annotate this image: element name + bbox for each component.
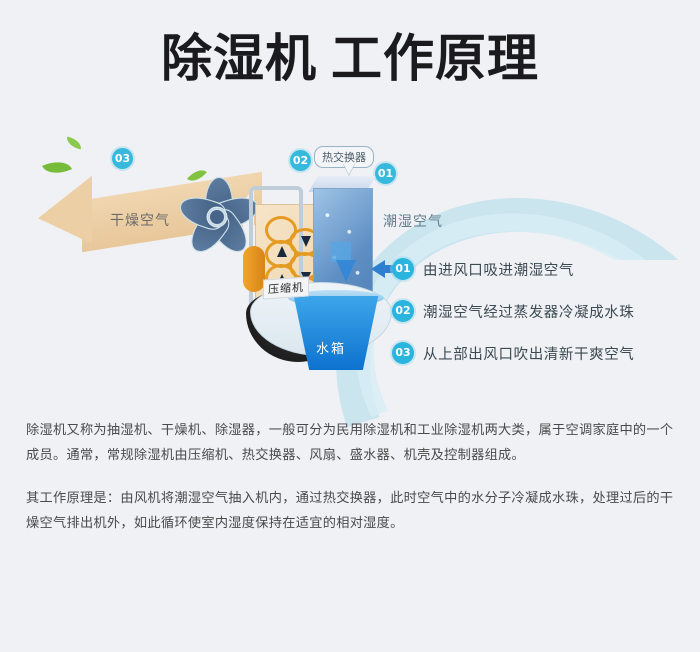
leaf-icon — [65, 136, 83, 149]
diagram-badge-dry-air: 03 — [112, 148, 133, 169]
flow-arrow-up-icon — [277, 246, 287, 257]
legend-list: 01 由进风口吸进潮湿空气 02 潮湿空气经过蒸发器冷凝成水珠 03 从上部出风… — [392, 258, 692, 384]
flow-arrow-down-icon — [301, 236, 311, 247]
legend-text: 由进风口吸进潮湿空气 — [423, 259, 574, 280]
legend-item: 01 由进风口吸进潮湿空气 — [392, 258, 692, 280]
page-title: 除湿机工作原理 — [0, 28, 700, 92]
title-part-1: 除湿机 — [161, 30, 317, 89]
water-drip-arrow-icon — [336, 260, 356, 282]
legend-text: 潮湿空气经过蒸发器冷凝成水珠 — [423, 301, 634, 322]
dry-air-label: 干燥空气 — [110, 210, 170, 230]
legend-badge: 03 — [392, 342, 414, 364]
title-part-2: 工作原理 — [331, 30, 539, 89]
description-paragraph-2: 其工作原理是：由风机将潮湿空气抽入机内，通过热交换器，此时空气中的水分子冷凝成水… — [26, 486, 676, 536]
receiver-cylinder — [243, 246, 265, 292]
heat-exchanger-callout: 热交换器 — [314, 146, 374, 168]
fan-hub — [208, 208, 226, 226]
page-root: 除湿机工作原理 03 干燥空气 02 热交换器 01 潮湿空气 — [0, 0, 700, 566]
water-drip-tail — [331, 242, 351, 262]
compressor-label: 压缩机 — [263, 276, 309, 299]
page-title-wrap: 除湿机工作原理 — [0, 28, 700, 92]
legend-badge: 01 — [392, 258, 414, 280]
description-paragraph-1: 除湿机又称为抽湿机、干燥机、除湿器，一般可分为民用除湿机和工业除湿机两大类，属于… — [26, 418, 676, 468]
legend-text: 从上部出风口吹出清新干爽空气 — [423, 343, 634, 364]
dry-air-arrow-head — [38, 176, 92, 253]
humid-air-label: 潮湿空气 — [383, 211, 443, 231]
legend-item: 02 潮湿空气经过蒸发器冷凝成水珠 — [392, 300, 692, 322]
description-block: 除湿机又称为抽湿机、干燥机、除湿器，一般可分为民用除湿机和工业除湿机两大类，属于… — [26, 418, 676, 554]
legend-item: 03 从上部出风口吹出清新干爽空气 — [392, 342, 692, 364]
legend-badge: 02 — [392, 300, 414, 322]
water-tank-label: 水箱 — [316, 338, 346, 357]
